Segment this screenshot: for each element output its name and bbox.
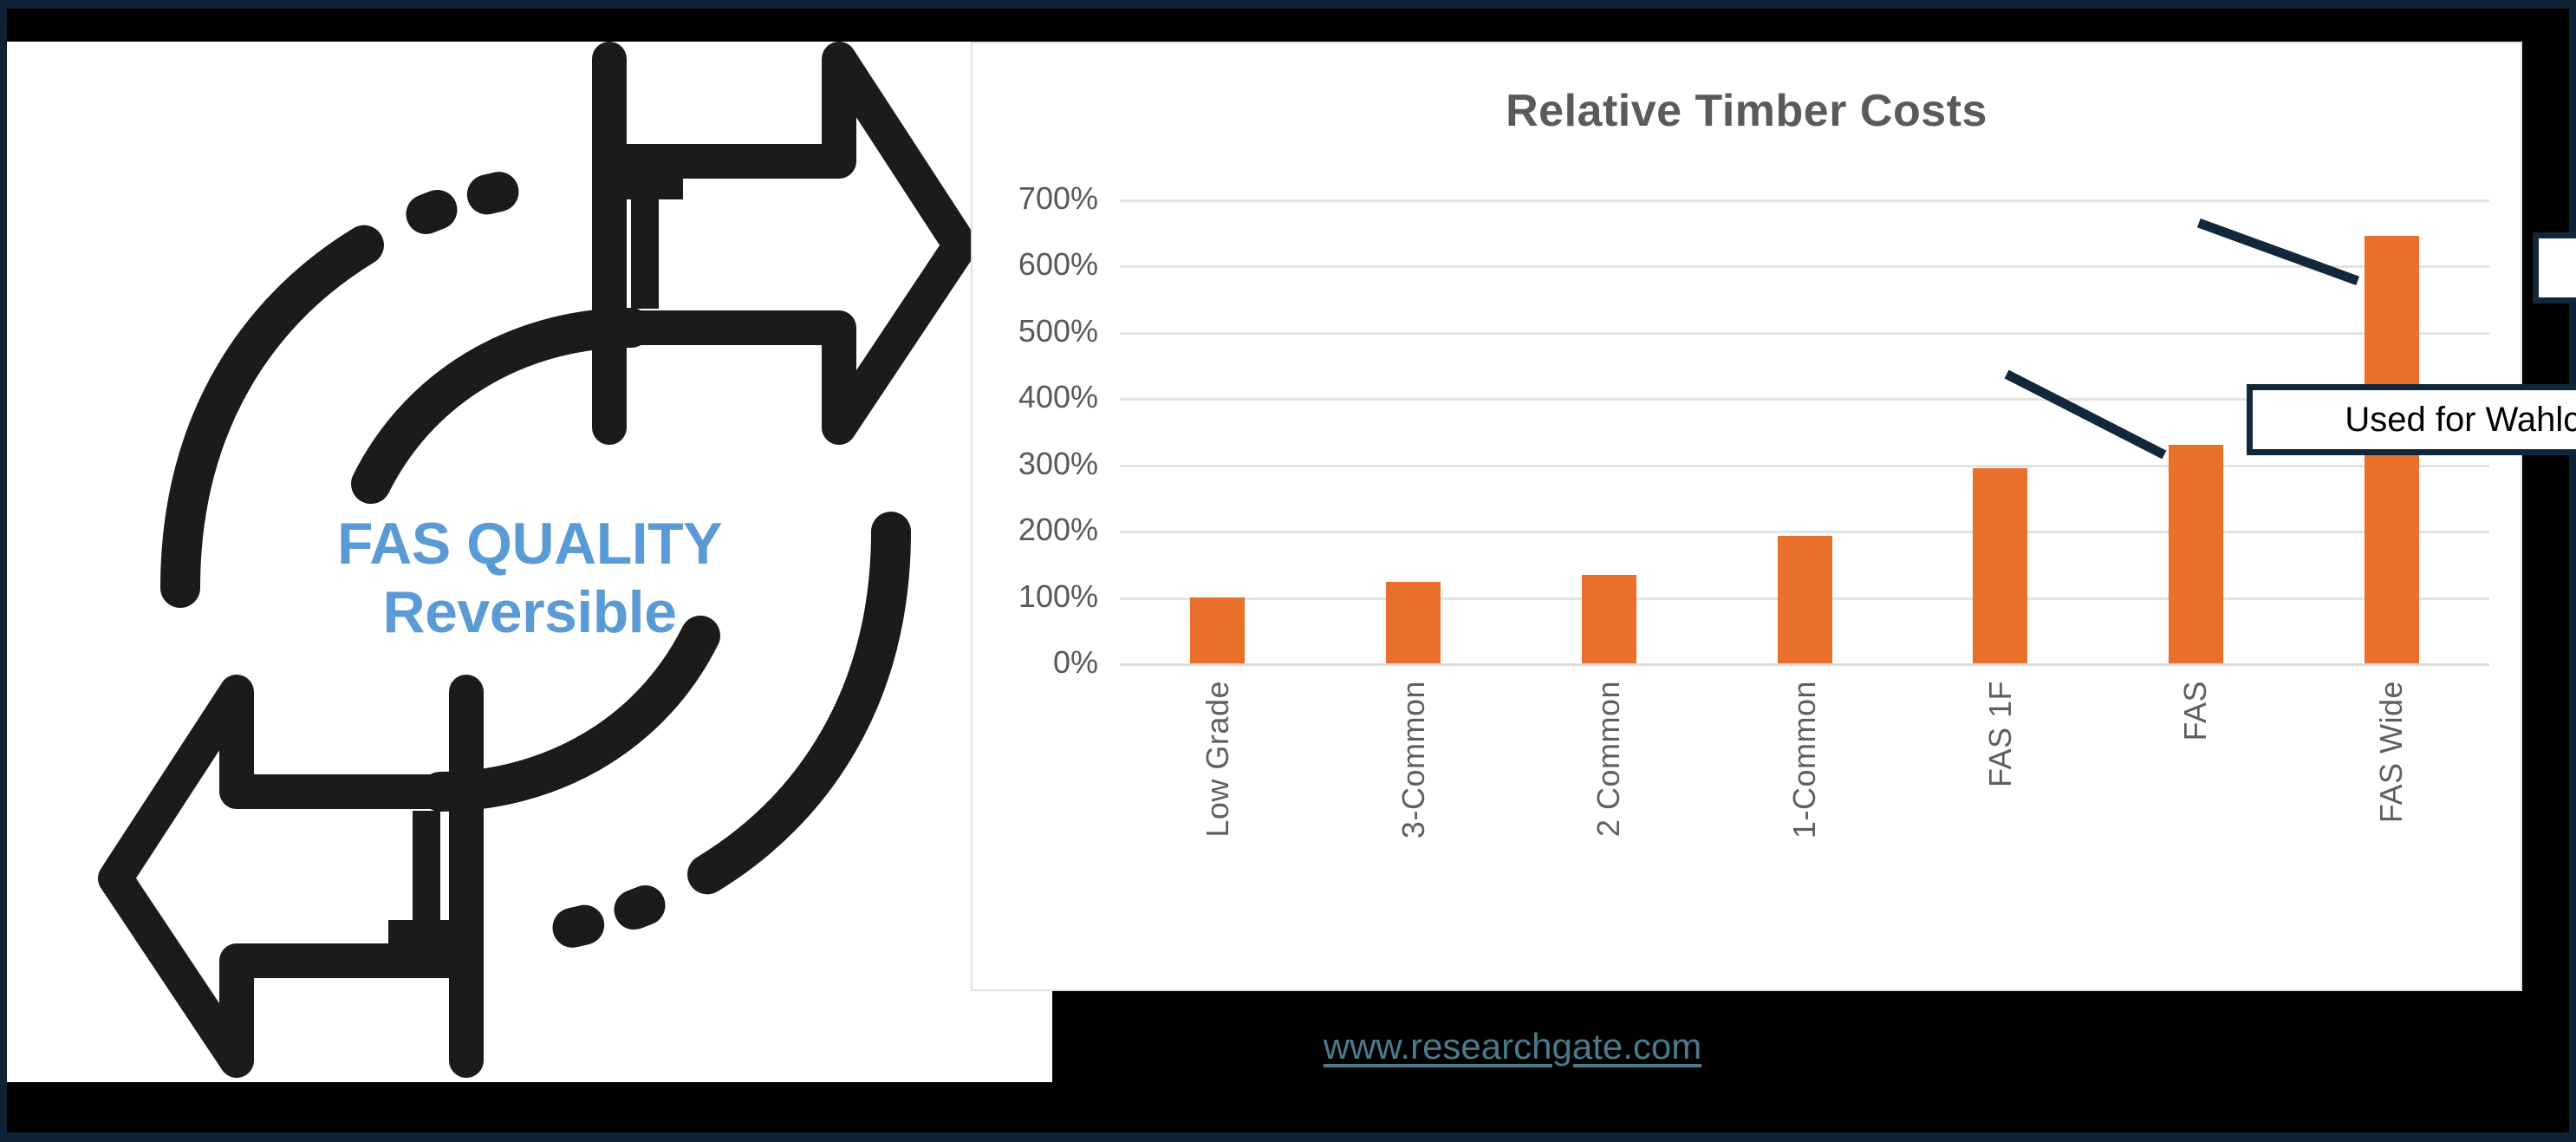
callout-connector-lines <box>973 43 2524 993</box>
fas-quality-headline: FAS QUALITY Reversible <box>7 510 1052 647</box>
headline-line-1: FAS QUALITY <box>7 510 1052 578</box>
callout-end-grain-boards: Used for Wahlch End Grain Boards <box>2247 384 2576 455</box>
headline-line-2: Reversible <box>7 578 1052 647</box>
callout-solid-boards: Used for Wahlch Solid Boards <box>2533 232 2576 303</box>
source-link[interactable]: www.researchgate.com <box>971 1026 2054 1067</box>
callout-end-grain-boards-label: Used for Wahlch End Grain Boards <box>2345 401 2576 440</box>
screenshot-root: FAS QUALITY Reversible Relative Timber C… <box>0 0 2576 1142</box>
chart-panel: Relative Timber Costs 700%600%500%400%30… <box>971 42 2522 991</box>
